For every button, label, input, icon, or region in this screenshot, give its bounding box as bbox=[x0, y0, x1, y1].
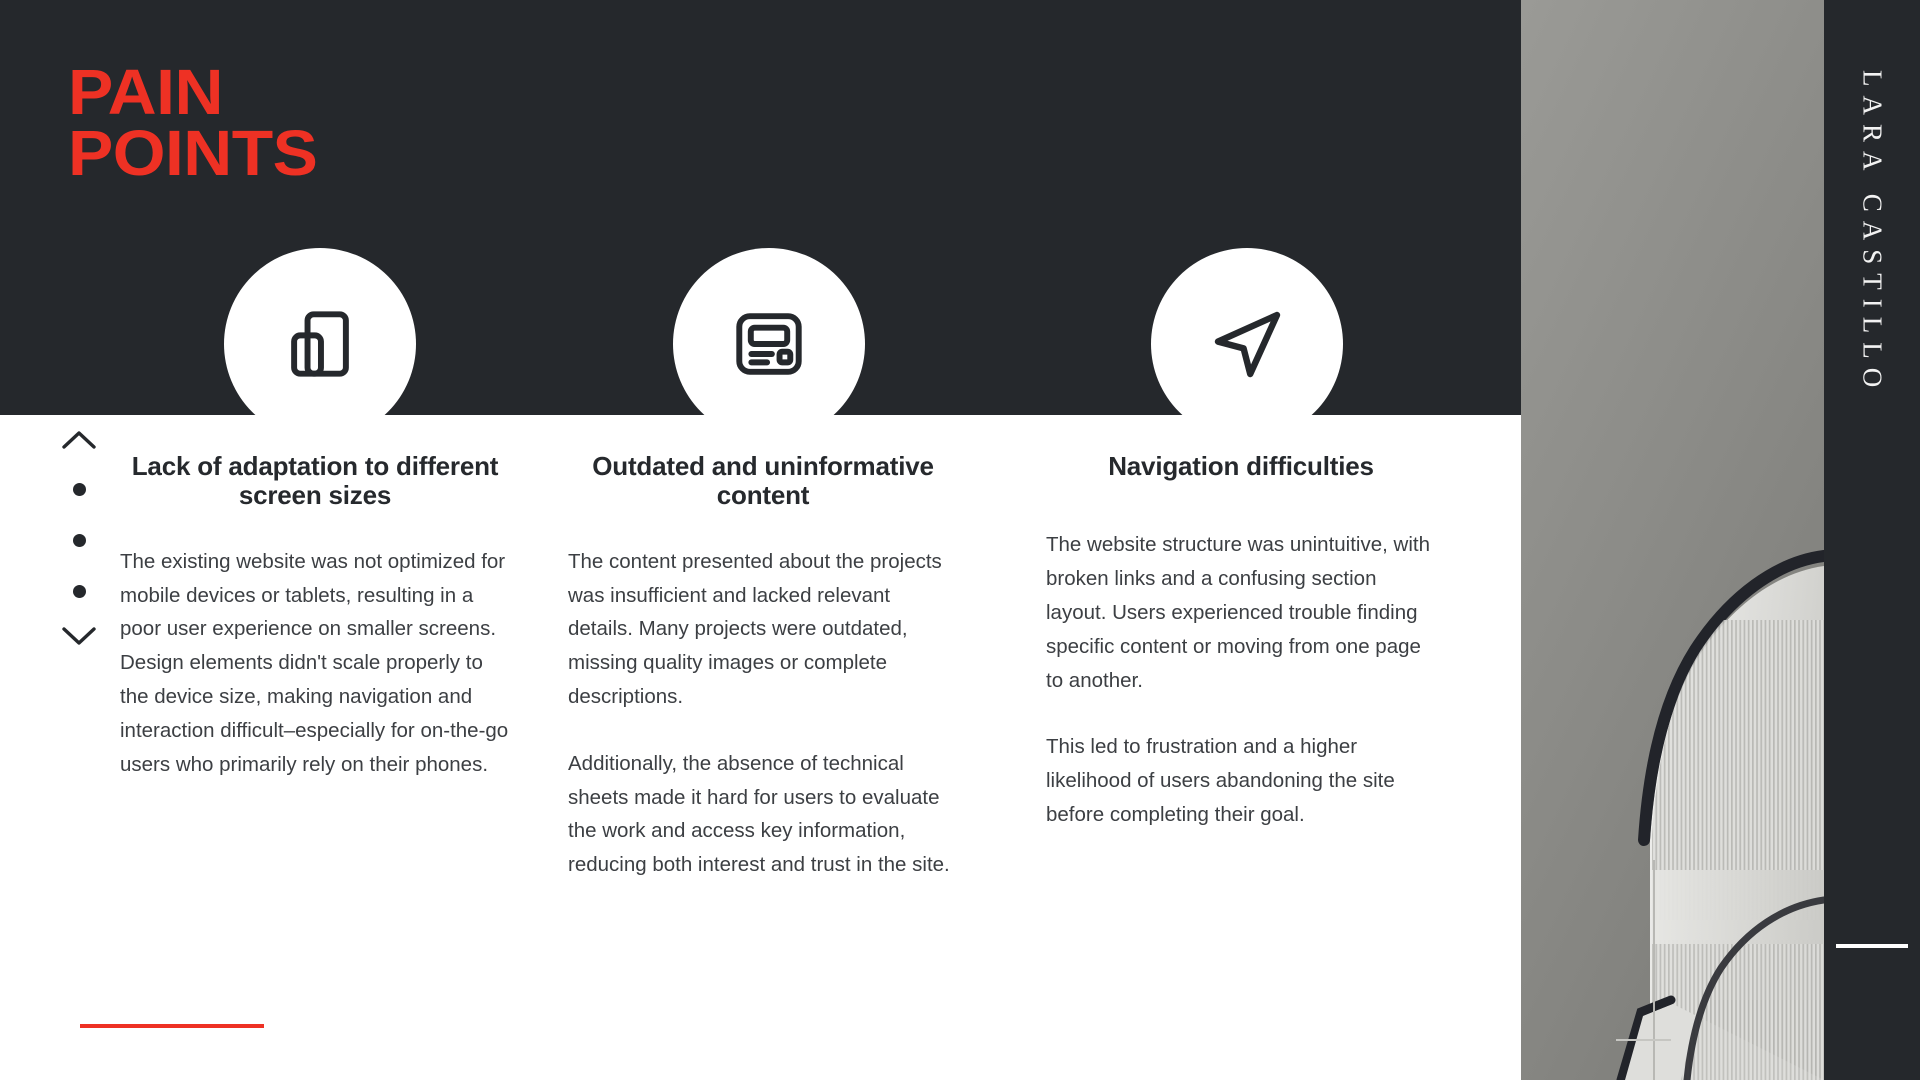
responsive-layout-icon bbox=[274, 298, 366, 390]
page-title-line-2: POINTS bbox=[68, 123, 317, 184]
slide-nav-dot[interactable] bbox=[73, 534, 86, 547]
column-heading: Lack of adaptation to different screen s… bbox=[120, 452, 510, 511]
pain-point-column-1: Lack of adaptation to different screen s… bbox=[120, 452, 510, 781]
slide-navigation[interactable] bbox=[56, 430, 102, 651]
slide-canvas: PAIN POINTS bbox=[0, 0, 1920, 1080]
slide-nav-dot[interactable] bbox=[73, 483, 86, 496]
pain-point-column-2: Outdated and uninformative content The c… bbox=[568, 452, 958, 882]
icon-badge-content-card bbox=[673, 248, 865, 440]
brand-name: LARA CASTILLO bbox=[1857, 70, 1888, 396]
navigation-arrow-icon bbox=[1199, 296, 1295, 392]
rail-divider bbox=[1836, 944, 1908, 948]
column-paragraph: The website structure was unintuitive, w… bbox=[1046, 528, 1436, 697]
page-title-line-1: PAIN bbox=[68, 62, 317, 123]
pain-point-column-3: Navigation difficulties The website stru… bbox=[1046, 452, 1436, 832]
column-paragraph: The existing website was not optimized f… bbox=[120, 545, 510, 782]
chevron-down-icon[interactable] bbox=[61, 626, 97, 651]
page-title: PAIN POINTS bbox=[68, 62, 303, 184]
column-paragraph: The content presented about the projects… bbox=[568, 545, 958, 714]
right-rail: LARA CASTILLO bbox=[1824, 0, 1920, 1080]
content-card-icon bbox=[723, 298, 815, 390]
column-paragraph: Additionally, the absence of technical s… bbox=[568, 747, 958, 882]
column-paragraph: This led to frustration and a higher lik… bbox=[1046, 730, 1436, 831]
icon-badge-responsive-layout bbox=[224, 248, 416, 440]
slide-nav-dot[interactable] bbox=[73, 585, 86, 598]
chevron-up-icon[interactable] bbox=[61, 430, 97, 455]
column-heading: Navigation difficulties bbox=[1046, 452, 1436, 481]
architecture-photo bbox=[1521, 0, 1824, 1080]
accent-rule bbox=[80, 1024, 264, 1028]
icon-badge-navigation-arrow bbox=[1151, 248, 1343, 440]
column-heading: Outdated and uninformative content bbox=[568, 452, 958, 511]
